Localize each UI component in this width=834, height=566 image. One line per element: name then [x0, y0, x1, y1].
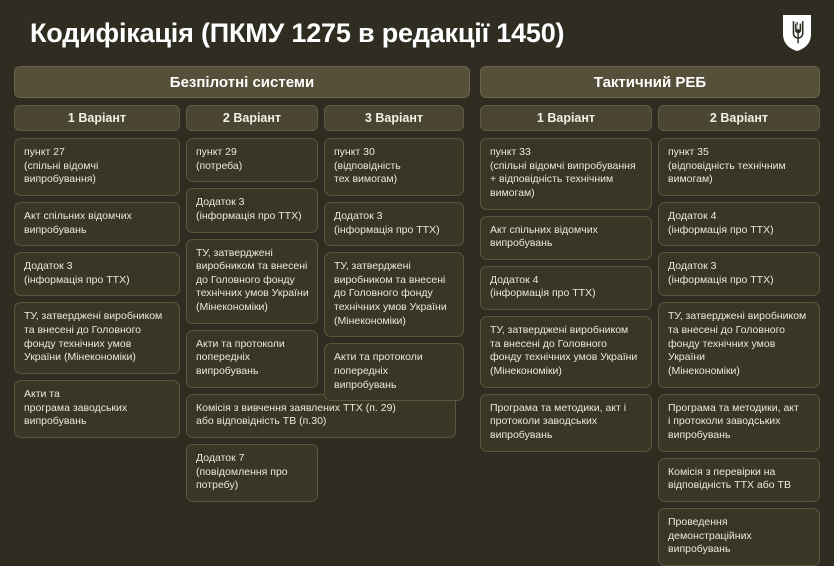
column-reb-variant-1: пункт 33 (спільні відомчі випробування +…	[480, 138, 652, 452]
variant-header-row-reb: 1 Варіант 2 Варіант	[480, 105, 820, 131]
card: ТУ, затверджені виробником та внесені до…	[324, 252, 464, 337]
card: Акт спільних відомчих випробувань	[14, 202, 180, 246]
variant-header-unmanned-3[interactable]: 3 Варіант	[324, 105, 464, 131]
variant-header-reb-1[interactable]: 1 Варіант	[480, 105, 652, 131]
card: Акти та програма заводських випробувань	[14, 380, 180, 438]
card: ТУ, затверджені виробником та внесені до…	[14, 302, 180, 374]
card: ТУ, затверджені виробником та внесені до…	[658, 302, 820, 387]
card: Додаток 3 (інформація про ТТХ)	[186, 188, 318, 232]
card: Додаток 4 (інформація про ТТХ)	[480, 266, 652, 310]
column-reb-variant-2: пункт 35 (відповідність технічним вимога…	[658, 138, 820, 566]
card: Додаток 3 (інформація про ТТХ)	[14, 252, 180, 296]
card: Акти та протоколи попередніх випробувань	[324, 343, 464, 401]
variant-header-unmanned-2[interactable]: 2 Варіант	[186, 105, 318, 131]
codification-diagram: Кодифікація (ПКМУ 1275 в редакції 1450) …	[0, 0, 834, 475]
card: Додаток 3 (інформація про ТТХ)	[658, 252, 820, 296]
card: пункт 35 (відповідність технічним вимога…	[658, 138, 820, 196]
column-unmanned-variant-2: пункт 29 (потреба) Додаток 3 (інформація…	[186, 138, 318, 502]
card: Додаток 7 (повідомлення про потребу)	[186, 444, 318, 502]
card: Додаток 3 (інформація про ТТХ)	[324, 202, 464, 246]
group-header-tactical-reb: Тактичний РЕБ	[480, 66, 820, 98]
variant-header-row-unmanned: 1 Варіант 2 Варіант 3 Варіант	[14, 105, 470, 131]
card: пункт 33 (спільні відомчі випробування +…	[480, 138, 652, 210]
title-bar: Кодифікація (ПКМУ 1275 в редакції 1450)	[14, 0, 820, 66]
group-unmanned-systems: Безпілотні системи 1 Варіант 2 Варіант 3…	[14, 66, 470, 566]
group-tactical-reb: Тактичний РЕБ 1 Варіант 2 Варіант пункт …	[480, 66, 820, 566]
card: Додаток 4 (інформація про ТТХ)	[658, 202, 820, 246]
column-unmanned-variant-3: пункт 30 (відповідність тех вимогам) Дод…	[324, 138, 464, 401]
card: Програма та методики, акт і протоколи за…	[658, 394, 820, 452]
card: Акти та протоколи попередніх випробувань	[186, 330, 318, 388]
variant-header-unmanned-1[interactable]: 1 Варіант	[14, 105, 180, 131]
card: пункт 29 (потреба)	[186, 138, 318, 182]
variant-header-reb-2[interactable]: 2 Варіант	[658, 105, 820, 131]
group-header-unmanned-systems: Безпілотні системи	[14, 66, 470, 98]
card: пункт 27 (спільні відомчі випробування)	[14, 138, 180, 196]
card: Акт спільних відомчих випробувань	[480, 216, 652, 260]
card: Програма та методики, акт і протоколи за…	[480, 394, 652, 452]
card: пункт 30 (відповідність тех вимогам)	[324, 138, 464, 196]
card: Комісія з перевірки на відповідність ТТХ…	[658, 458, 820, 502]
diagram-board: Безпілотні системи 1 Варіант 2 Варіант 3…	[14, 66, 820, 566]
card: ТУ, затверджені виробником та внесені до…	[480, 316, 652, 388]
card: Проведення демонстраційних випробувань	[658, 508, 820, 566]
column-unmanned-variant-1: пункт 27 (спільні відомчі випробування) …	[14, 138, 180, 438]
page-title: Кодифікація (ПКМУ 1275 в редакції 1450)	[30, 18, 564, 49]
reb-columns: пункт 33 (спільні відомчі випробування +…	[480, 138, 820, 566]
card: ТУ, затверджені виробником та внесені до…	[186, 239, 318, 324]
ukraine-mod-trident-shield-emblem	[782, 14, 812, 52]
unmanned-columns: пункт 27 (спільні відомчі випробування) …	[14, 138, 470, 502]
